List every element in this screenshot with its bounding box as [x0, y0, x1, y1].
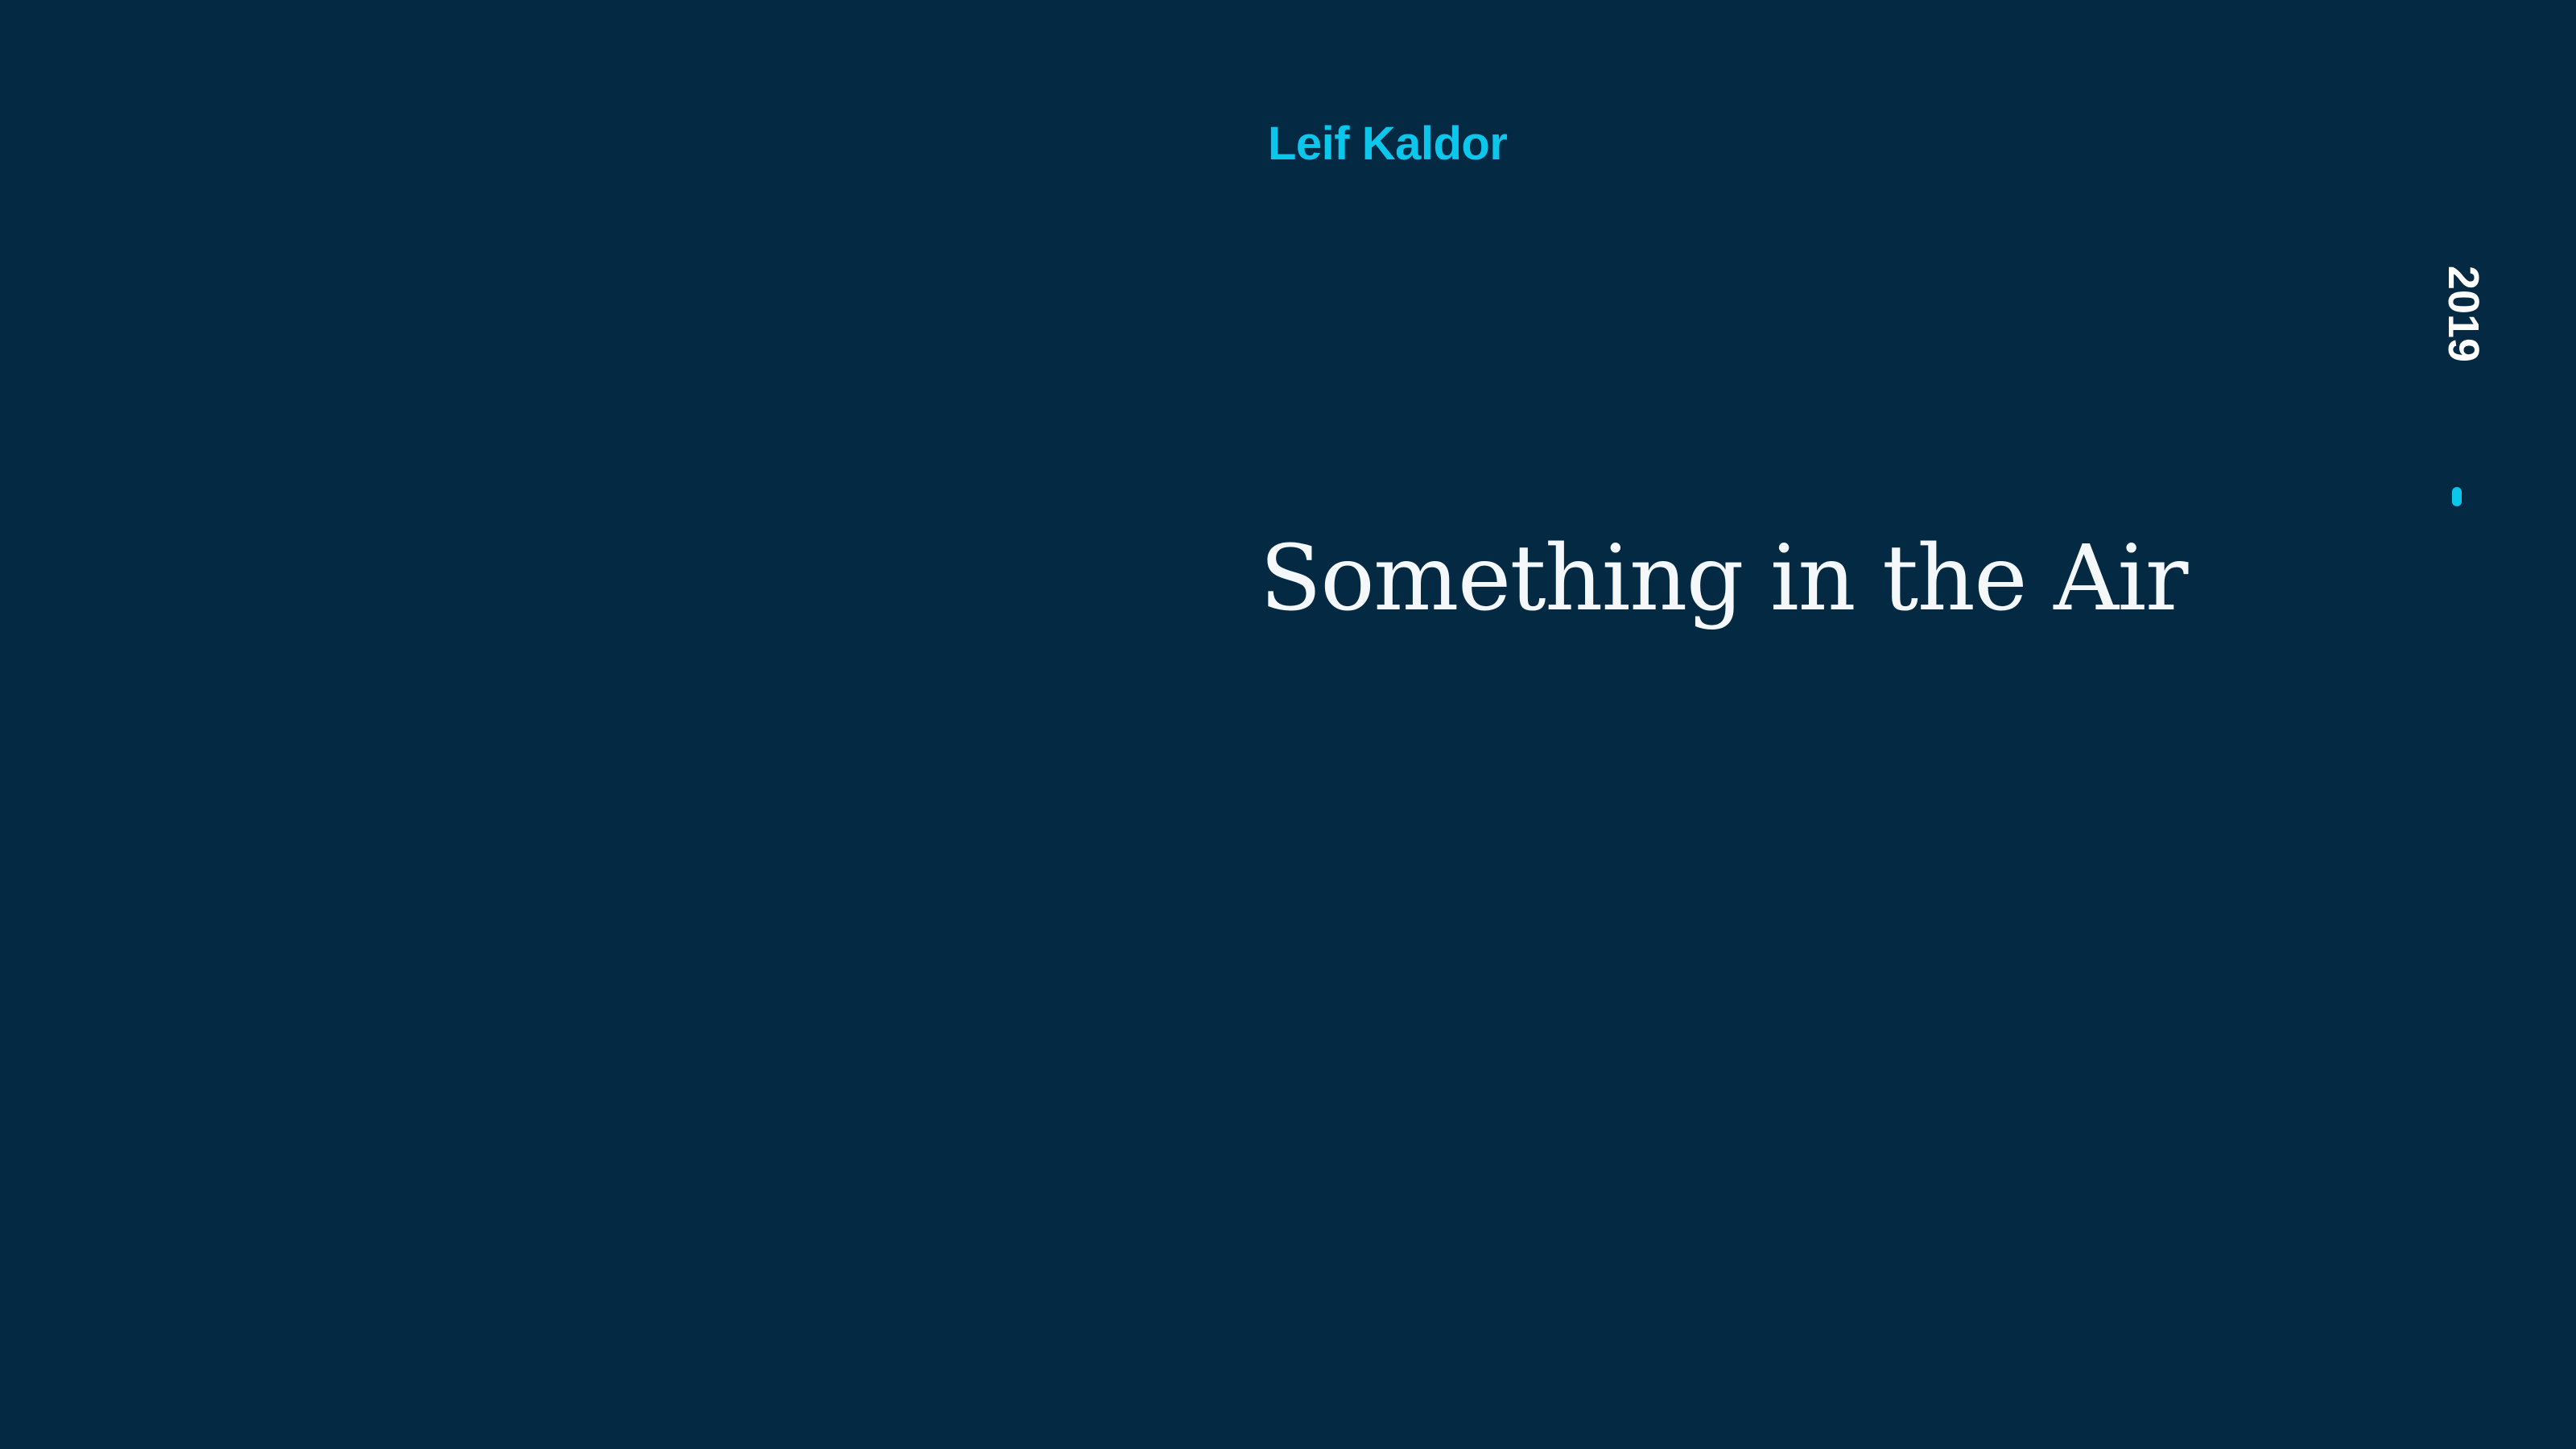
year-label: 2019: [2442, 266, 2485, 362]
vertical-bar-icon: [2452, 487, 2462, 506]
page-title: Something in the Air: [1260, 534, 2187, 624]
year-rail: 2019: [2431, 225, 2495, 402]
author-byline: Leif Kaldor: [1268, 121, 1507, 167]
poster-canvas: Leif Kaldor Something in the Air 2019: [0, 0, 2576, 1449]
